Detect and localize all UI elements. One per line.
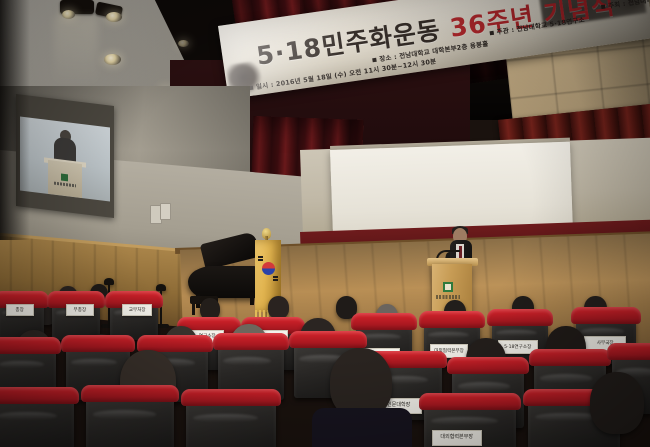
seat-glare [496, 330, 536, 336]
seat-glare [581, 328, 624, 335]
flag-trigram-icon [273, 279, 278, 281]
flag-trigram-icon [273, 276, 278, 278]
seat-placard-text: 교무처장 [129, 308, 146, 313]
flag-trigram-icon [258, 259, 263, 261]
seat-placard-text: 5·18연구소장 [504, 345, 531, 350]
seat-headrest [487, 309, 553, 326]
ceiling-spotlight [104, 54, 121, 65]
wall-projection-frame [16, 94, 114, 218]
seat-headrest [607, 343, 650, 360]
seat-headrest [529, 349, 611, 366]
piano-bench-leg [192, 303, 195, 315]
seat-glare [0, 361, 44, 369]
seat-headrest [571, 307, 641, 324]
seat-placard: 부총장 [66, 304, 94, 316]
seat-headrest [181, 389, 281, 406]
seat-placard-text: 부총장 [74, 308, 87, 313]
seat-glare [458, 382, 510, 391]
seat-glare [428, 332, 468, 338]
seat-glare [93, 410, 156, 419]
seat-placard: 총장 [6, 304, 34, 316]
left-shadow [0, 0, 30, 240]
seat-headrest [289, 331, 367, 348]
ceiling-spotlight [178, 40, 189, 47]
seat-glare [540, 374, 592, 383]
light-beam [54, 16, 98, 86]
projected-podium-emblem [61, 174, 68, 182]
auditorium-seat[interactable] [186, 398, 276, 447]
flag-trigram-icon [258, 256, 263, 258]
audience-shoulders [312, 408, 412, 447]
seat-placard: 대외협력본부장 [432, 430, 482, 446]
seat-glare [0, 412, 57, 420]
audience-head [268, 296, 289, 319]
seat-placard-text: 대외협력본부장 [441, 435, 474, 440]
seat-headrest [61, 335, 135, 352]
seat-headrest [0, 337, 61, 354]
bullet-square-icon [601, 5, 606, 10]
auditorium-seat[interactable] [0, 396, 74, 447]
seat-placard: 교무처장 [122, 304, 152, 316]
ceiling-spotlight [106, 12, 122, 22]
wall-projection-screen [20, 116, 110, 201]
seat-headrest [213, 333, 289, 350]
wall-control-panel [160, 203, 171, 220]
auditorium-seat[interactable] [86, 394, 174, 447]
audience-head [590, 372, 644, 434]
podium-nameplate-text [436, 295, 460, 299]
auditorium-photo: 5·18민주화운동 36주년 기념식 일시 : 2016년 5월 18일 (수)… [0, 0, 650, 447]
seat-headrest [447, 357, 529, 374]
flag-taegeuk-icon [262, 262, 275, 275]
seat-glare [193, 414, 258, 422]
bullet-square-icon [490, 31, 495, 36]
seat-headrest [351, 313, 417, 330]
seat-headrest [419, 393, 521, 410]
seat-headrest [419, 311, 485, 328]
bullet-square-icon [372, 58, 377, 63]
seat-headrest [81, 385, 179, 402]
seat-placard-text: 총장 [16, 308, 24, 313]
piano-leg [250, 292, 254, 305]
seat-glare [71, 359, 117, 367]
seat-headrest [0, 387, 79, 404]
seat-glare [223, 357, 271, 365]
seat-glare [431, 417, 497, 425]
university-emblem-icon [443, 282, 453, 292]
